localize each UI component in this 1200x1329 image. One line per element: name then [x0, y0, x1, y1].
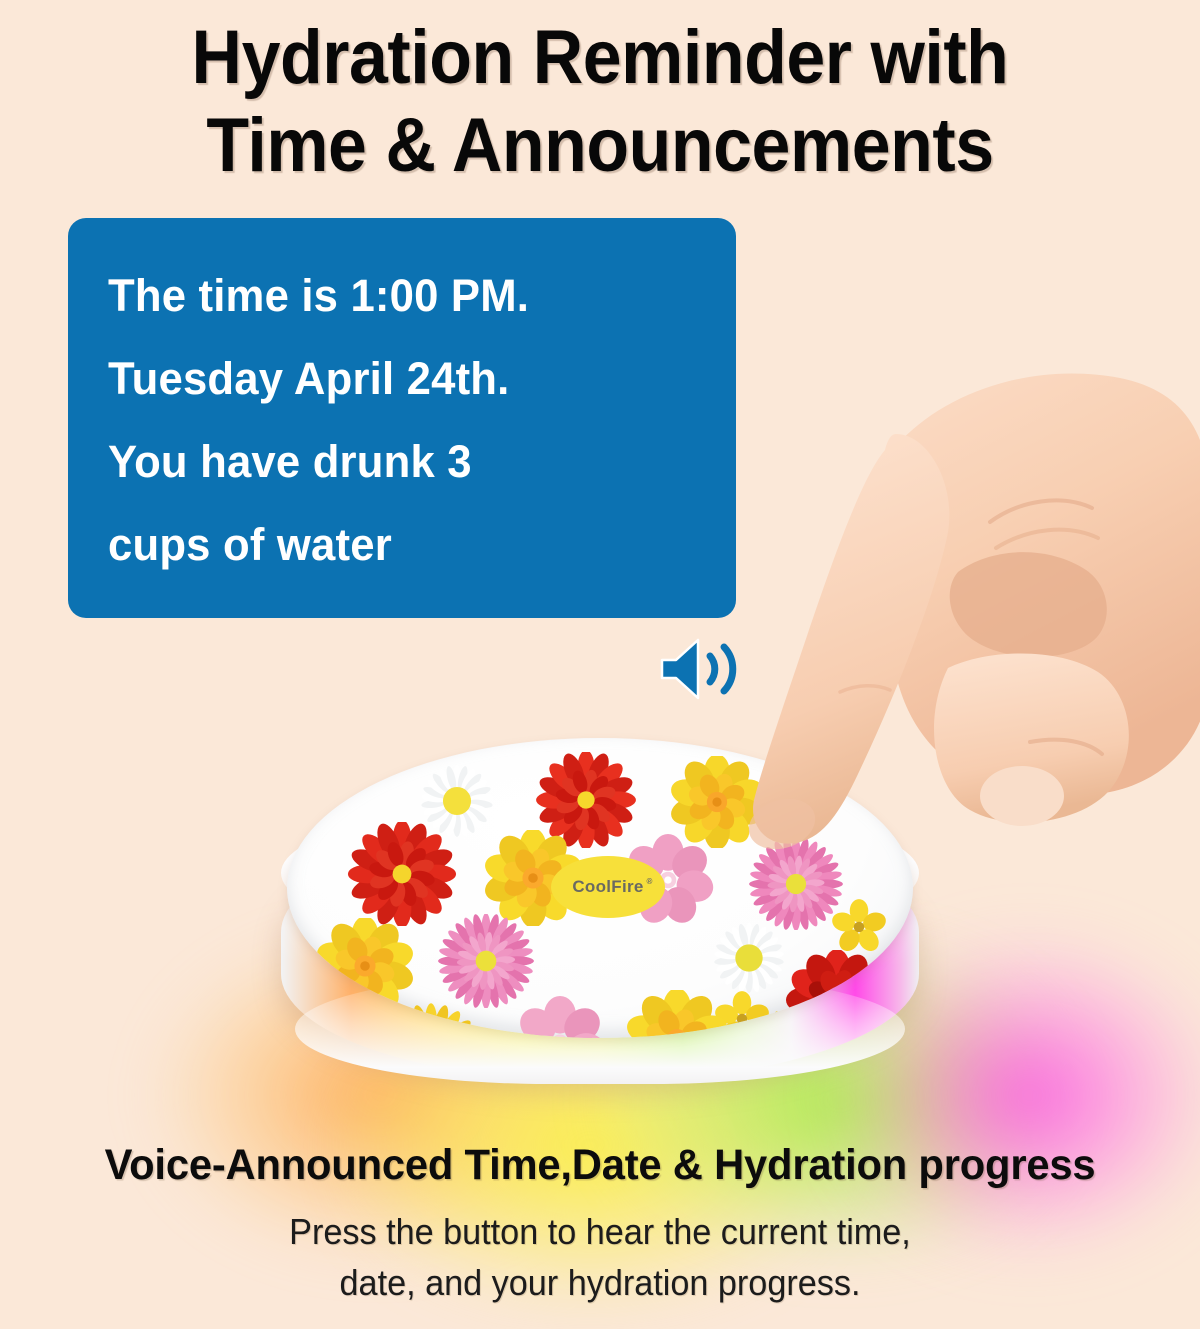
product-infographic: Hydration Reminder with Time & Announcem…	[0, 0, 1200, 1329]
footer-headline: Voice-Announced Time,Date & Hydration pr…	[18, 1140, 1182, 1190]
footer-subtext: Press the button to hear the current tim…	[30, 1206, 1170, 1308]
flower-pink-gerbera	[425, 914, 547, 1008]
announcement-bubble: The time is 1:00 PM. Tuesday April 24th.…	[68, 218, 748, 618]
flower-sunflower	[361, 1000, 501, 1038]
flower-sunflower	[721, 1006, 861, 1038]
flower-red-dahlia	[335, 822, 469, 926]
announcement-bubble-body: The time is 1:00 PM. Tuesday April 24th.…	[68, 218, 736, 618]
flower-yellow-buttercup	[829, 898, 889, 956]
page-title: Hydration Reminder with Time & Announcem…	[48, 14, 1152, 190]
bubble-tail	[526, 386, 604, 458]
coolfire-logo-text: CoolFire	[572, 877, 643, 897]
thumbnail	[980, 766, 1064, 826]
flower-pink-hibiscus	[499, 996, 621, 1038]
hand-pressing-button	[690, 372, 1200, 884]
coolfire-logo: CoolFire	[551, 856, 665, 918]
